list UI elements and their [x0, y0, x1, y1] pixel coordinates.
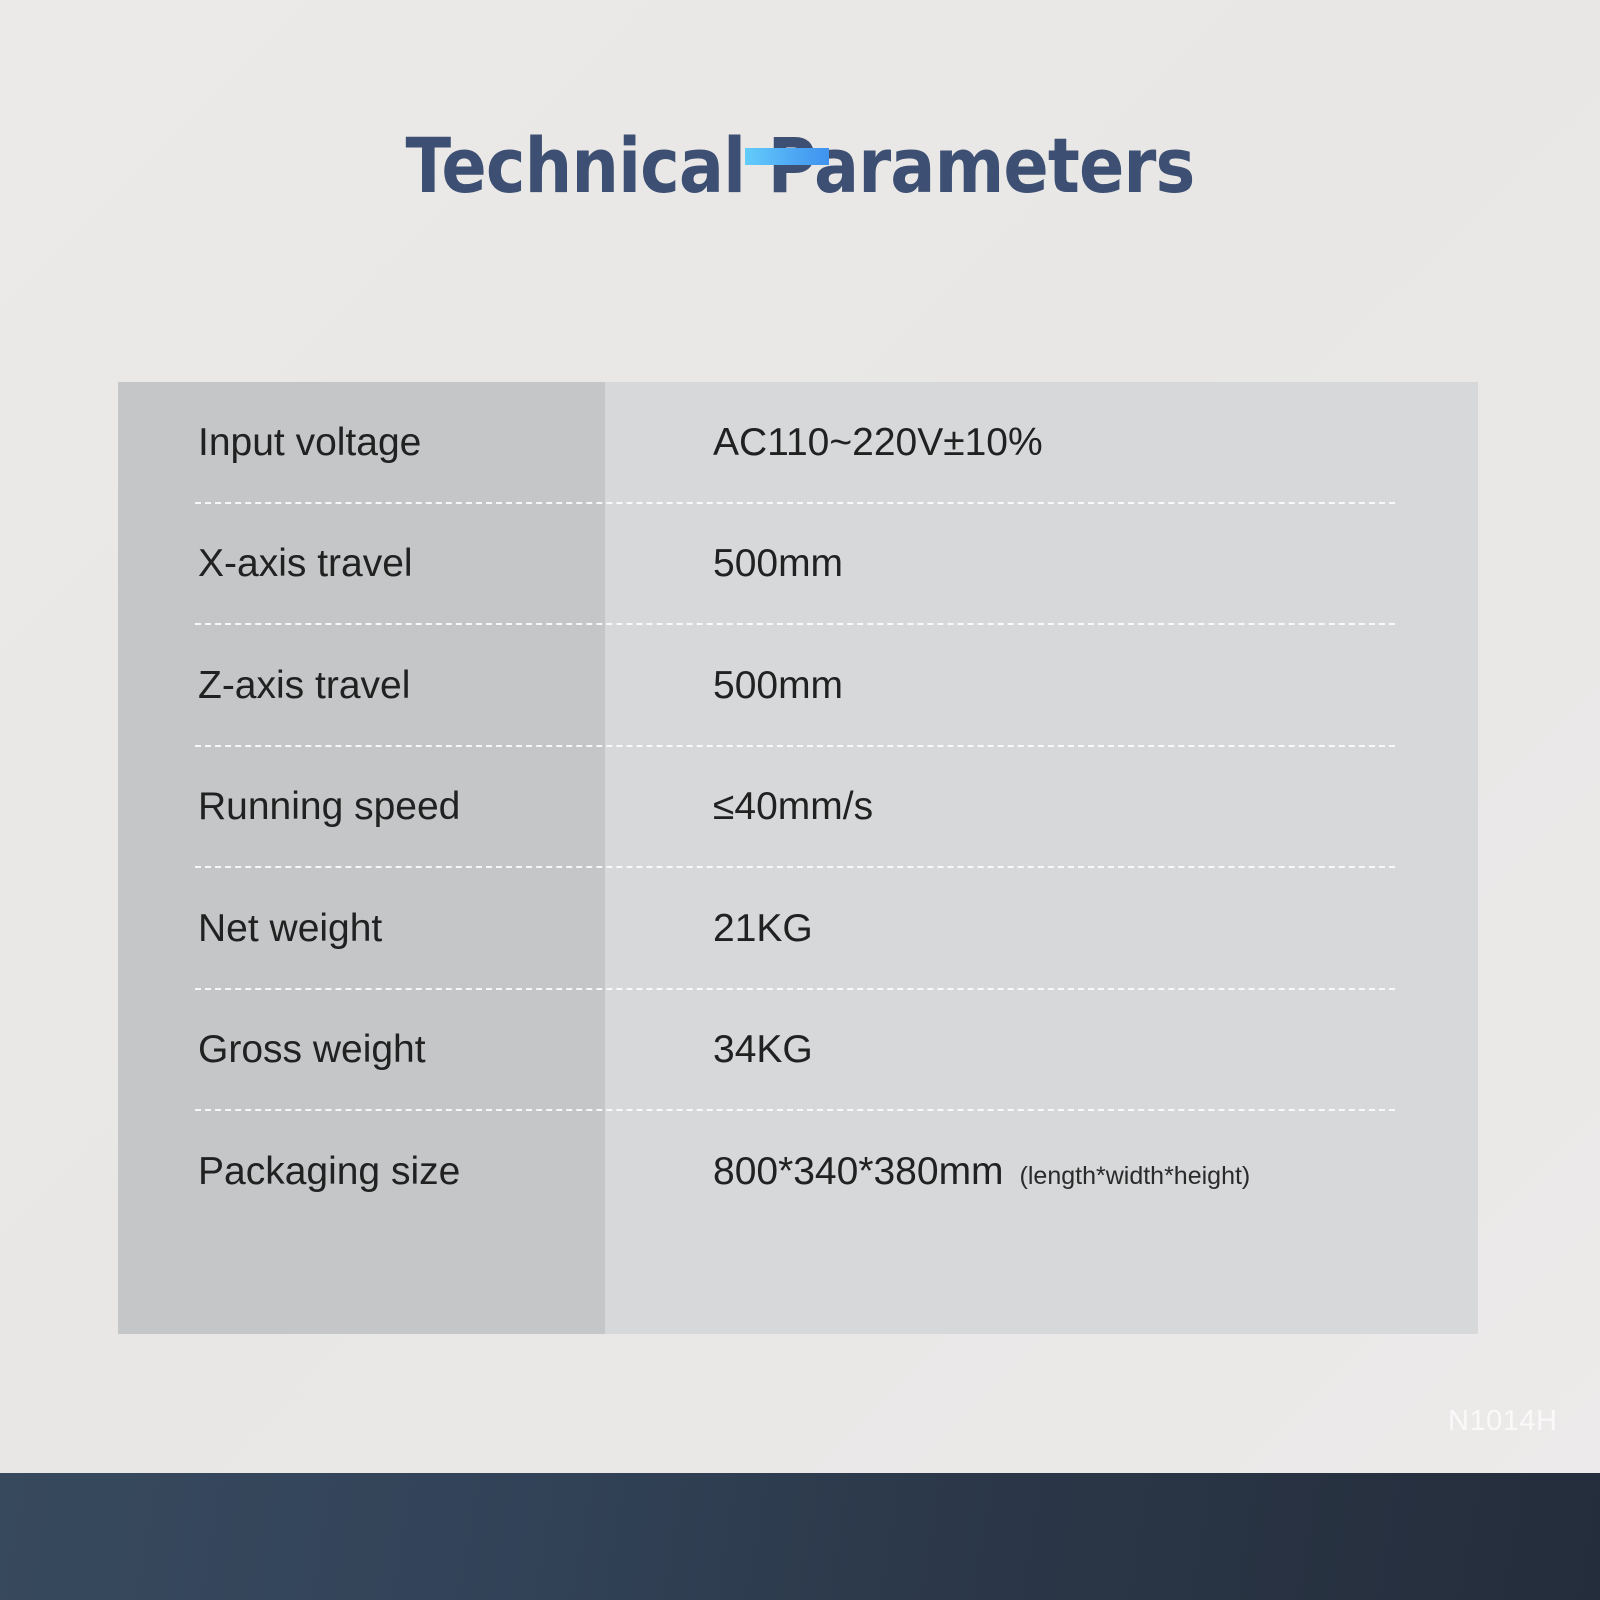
table-row: Running speed ≤40mm/s [118, 747, 1478, 869]
spec-value: 800*340*380mm [713, 1150, 1004, 1194]
spec-label: Packaging size [118, 1150, 605, 1194]
spec-value: 500mm [713, 542, 843, 586]
table-row: Packaging size 800*340*380mm (length*wid… [118, 1111, 1478, 1233]
spec-label: Net weight [118, 907, 605, 951]
table-row: Z-axis travel 500mm [118, 625, 1478, 747]
watermark: N1014H [1448, 1405, 1557, 1438]
spec-value: 500mm [713, 664, 843, 708]
spec-table-rows: Input voltage AC110~220V±10% X-axis trav… [118, 382, 1478, 1334]
spec-table: Input voltage AC110~220V±10% X-axis trav… [118, 382, 1478, 1334]
spec-label: Running speed [118, 785, 605, 829]
spec-value-cell: 500mm [605, 664, 1478, 708]
spec-value: ≤40mm/s [713, 785, 873, 829]
spec-value-cell: 34KG [605, 1028, 1478, 1072]
spec-label: X-axis travel [118, 542, 605, 586]
spec-value-cell: ≤40mm/s [605, 785, 1478, 829]
table-row: Input voltage AC110~220V±10% [118, 382, 1478, 504]
title-accent-bar [745, 148, 829, 165]
spec-value: 34KG [713, 1028, 813, 1072]
spec-label: Z-axis travel [118, 664, 605, 708]
page-title: Technical Parameters [96, 128, 1504, 204]
spec-value-note: (length*width*height) [1020, 1162, 1251, 1191]
spec-value-cell: 800*340*380mm (length*width*height) [605, 1150, 1478, 1194]
spec-label: Input voltage [118, 421, 605, 465]
header: Technical Parameters [0, 128, 1600, 204]
footer-band [0, 1473, 1600, 1600]
table-row: Gross weight 34KG [118, 990, 1478, 1112]
spec-value: 21KG [713, 907, 813, 951]
spec-value-cell: 500mm [605, 542, 1478, 586]
table-row: Net weight 21KG [118, 868, 1478, 990]
table-row: X-axis travel 500mm [118, 504, 1478, 626]
spec-sheet-page: Technical Parameters Input voltage AC110… [0, 0, 1600, 1600]
spec-value-cell: AC110~220V±10% [605, 421, 1478, 465]
spec-label: Gross weight [118, 1028, 605, 1072]
spec-value: AC110~220V±10% [713, 421, 1043, 465]
spec-value-cell: 21KG [605, 907, 1478, 951]
